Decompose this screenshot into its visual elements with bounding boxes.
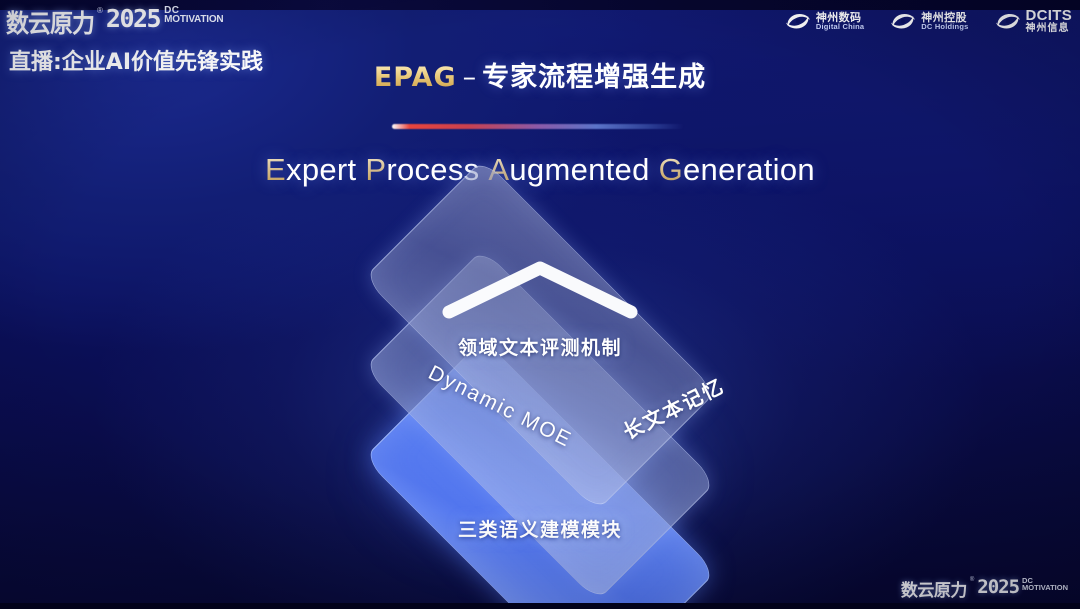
subtitle-cap-e: E — [265, 152, 286, 187]
partner-label: 神州控股 DC Holdings — [921, 12, 968, 32]
partner-name-en: DCITS — [1026, 8, 1073, 24]
registered-mark-icon: ® — [97, 6, 103, 15]
partner-logo-dcits: DCITS 神州信息 — [995, 8, 1073, 35]
swirl-logo-icon — [995, 10, 1021, 32]
partner-name-cn: 神州信息 — [1026, 24, 1073, 35]
subtitle-cap-g: G — [659, 152, 683, 187]
footer-watermark-logo: 数云原力 ® 2025 DC MOTIVATION — [901, 576, 1068, 601]
slide-main-title: EPAG–专家流程增强生成 — [0, 55, 1080, 94]
watermark-cn: 数云原力 — [901, 576, 967, 601]
slide-subtitle: Expert Process Augmented Generation — [0, 152, 1080, 188]
subtitle-rest-expert: xpert — [286, 152, 356, 187]
partner-logo-group: 神州数码 Digital China 神州控股 DC Holdings — [785, 8, 1072, 35]
brand-logo-year: 2025 — [106, 4, 160, 33]
partner-logo-digital-china: 神州数码 Digital China — [785, 10, 864, 32]
watermark-dc-line2: MOTIVATION — [1022, 585, 1068, 592]
title-dash: – — [463, 62, 477, 93]
slide-canvas: 数云原力 ® 2025 DC MOTIVATION 直播:企业AI价值先锋实践 … — [0, 0, 1080, 609]
brand-logo-cn: 数云原力 — [6, 3, 94, 40]
partner-label: 神州数码 Digital China — [816, 12, 864, 32]
partner-label: DCITS 神州信息 — [1026, 8, 1073, 35]
brand-dc-line2: MOTIVATION — [164, 15, 223, 24]
subtitle-cap-p: P — [365, 152, 386, 187]
watermark-dc-motivation: DC MOTIVATION — [1022, 578, 1068, 592]
title-divider — [392, 124, 684, 129]
partner-name-en: Digital China — [816, 23, 864, 31]
chevron-up-icon — [435, 250, 645, 330]
watermark-registered-icon: ® — [970, 577, 974, 583]
partner-logo-dc-holdings: 神州控股 DC Holdings — [890, 10, 968, 32]
subtitle-rest-augmented: ugmented — [509, 152, 649, 187]
title-acronym: EPAG — [374, 62, 457, 93]
bottom-edge-strip — [0, 603, 1080, 609]
watermark-year: 2025 — [977, 576, 1019, 598]
brand-logo-dc-motivation: DC MOTIVATION — [164, 6, 223, 24]
partner-name-en: DC Holdings — [921, 23, 968, 31]
layered-architecture-diagram: 领域文本评测机制 Dynamic MOE 长文本记忆 三类语义建模模块 — [240, 225, 840, 585]
swirl-logo-icon — [785, 10, 811, 32]
title-chinese: 专家流程增强生成 — [482, 62, 706, 93]
brand-logo: 数云原力 ® 2025 DC MOTIVATION — [6, 4, 336, 38]
swirl-logo-icon — [890, 10, 916, 32]
subtitle-rest-generation: eneration — [683, 152, 815, 187]
